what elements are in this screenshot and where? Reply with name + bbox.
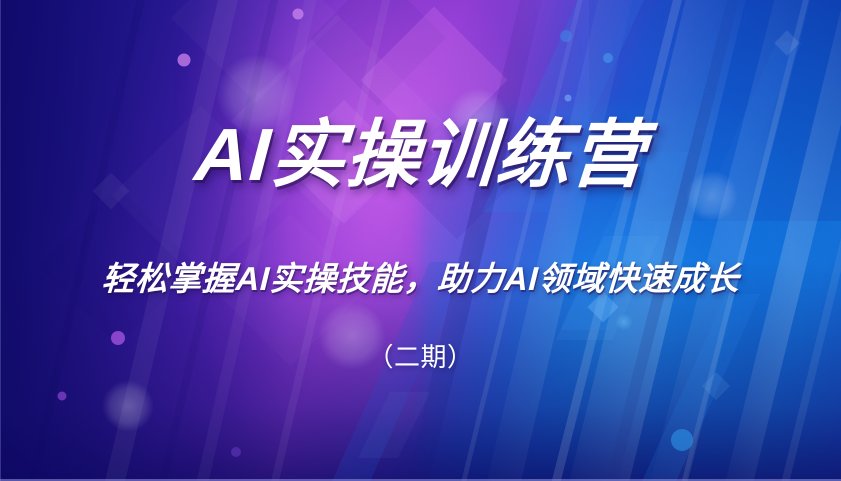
- promo-banner: AI实操训练营 轻松掌握AI实操技能，助力AI领域快速成长 （二期）: [0, 0, 841, 481]
- banner-edition-label: （二期）: [0, 344, 841, 370]
- left-edge-hairline: [0, 0, 1, 481]
- banner-subtitle: 轻松掌握AI实操技能，助力AI领域快速成长: [0, 262, 841, 295]
- page-title: AI实操训练营: [0, 118, 841, 192]
- banner-content: AI实操训练营 轻松掌握AI实操技能，助力AI领域快速成长 （二期）: [0, 0, 841, 481]
